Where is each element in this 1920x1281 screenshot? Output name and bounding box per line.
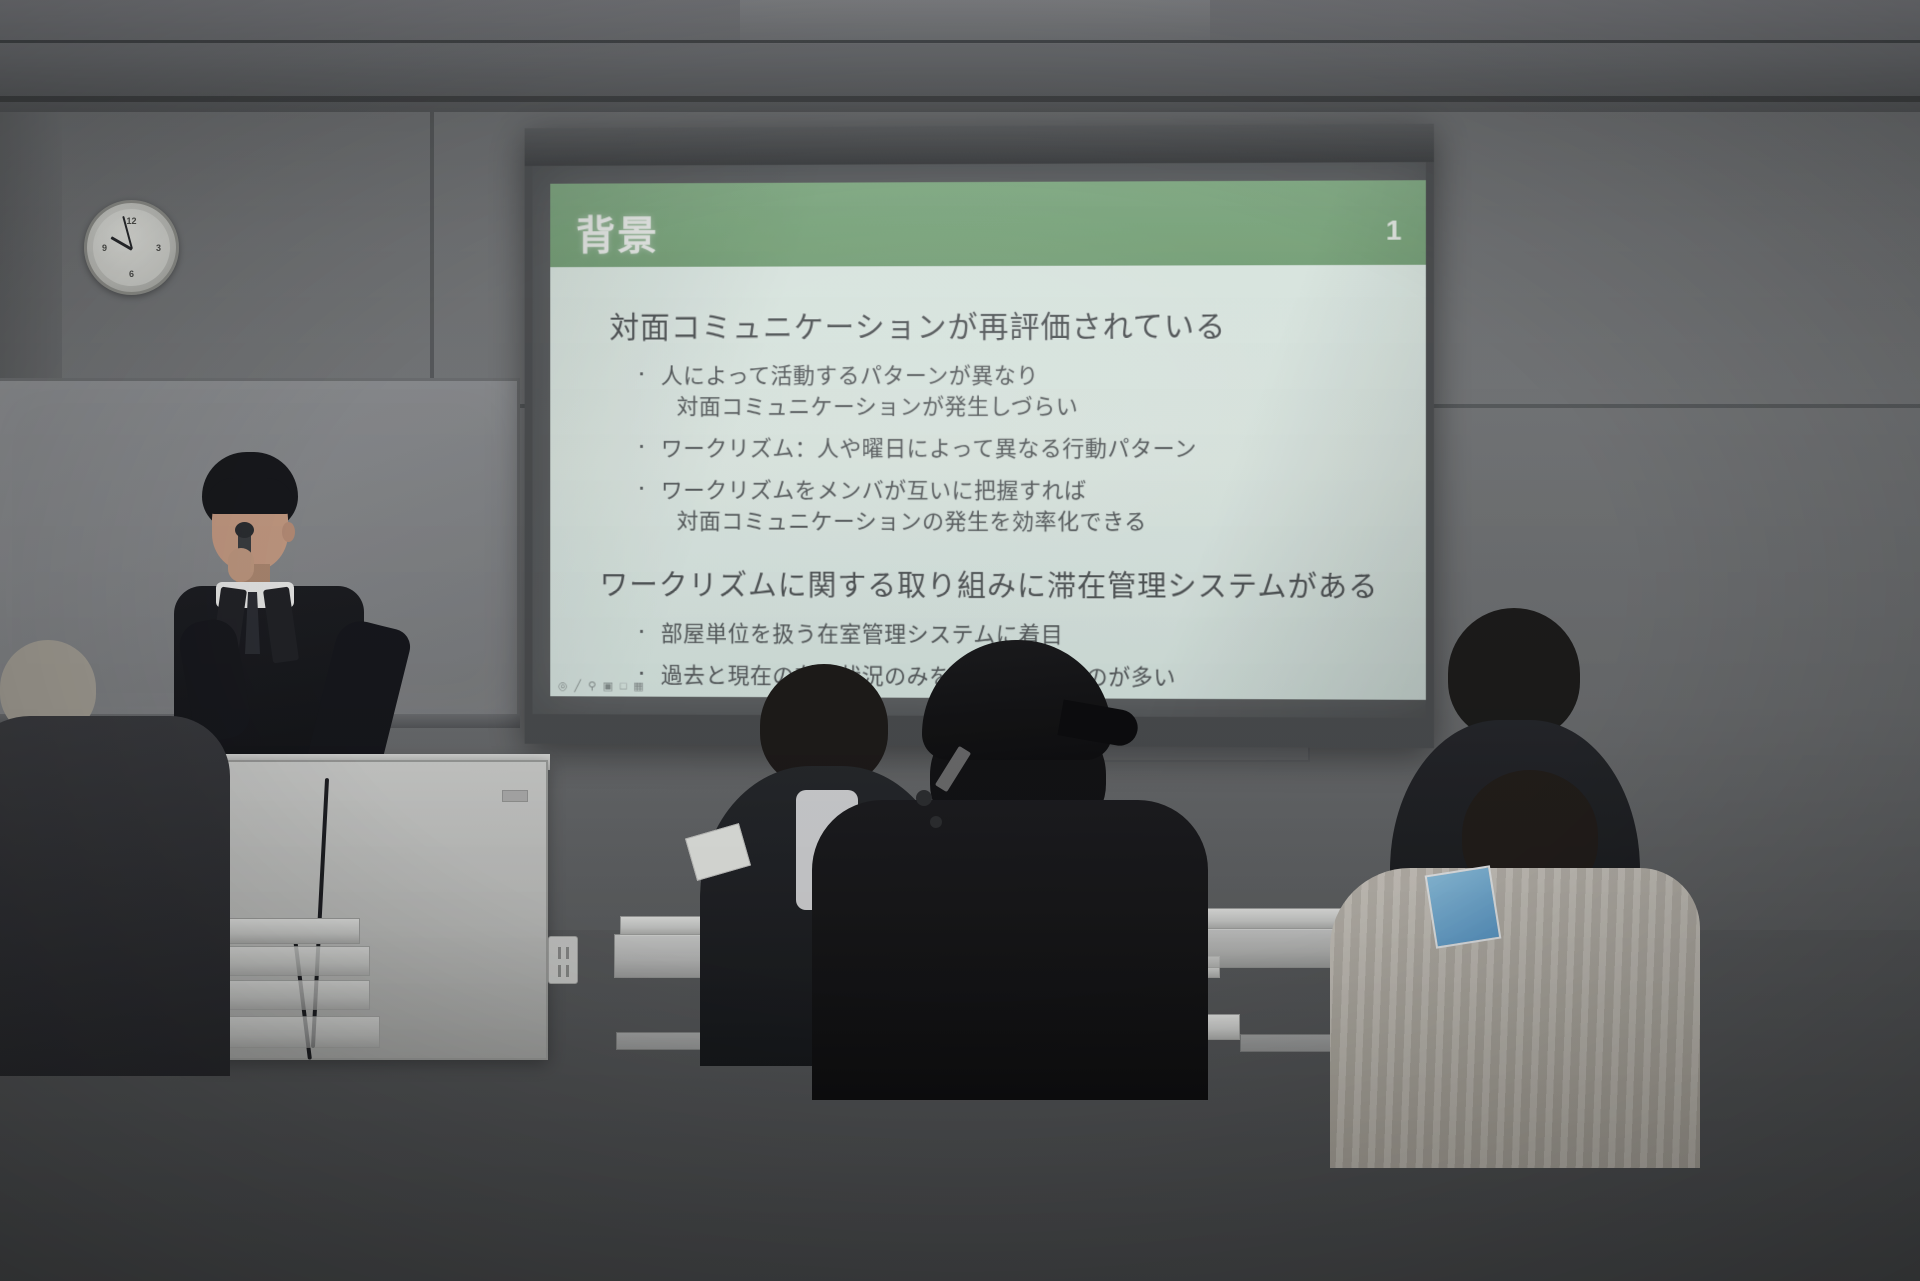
audience-body <box>812 800 1208 1100</box>
bullet-line-2: 対面コミュニケーションの発生を効率化できる <box>661 506 1392 538</box>
magnifier-icon[interactable]: ⚲ <box>588 681 596 692</box>
presentation-slide: 背景 1 対面コミュニケーションが再評価されている 人によって活動するパターンが… <box>550 180 1426 700</box>
grid-icon[interactable]: ▦ <box>634 682 644 693</box>
hoodie-detail <box>930 816 942 828</box>
pdf-presenter-toolbar[interactable]: ◎ ╱ ⚲ ▣ □ ▦ <box>558 681 644 692</box>
clock-numeral-9: 9 <box>102 243 107 253</box>
wall-clock: 12 3 6 9 <box>84 200 179 295</box>
knit-sweater-texture <box>1330 868 1700 1168</box>
microphone-head <box>235 522 254 538</box>
bullet-line-2: 対面コミュニケーションが発生しづらい <box>661 391 1392 422</box>
slide-header: 背景 1 <box>550 180 1426 267</box>
slide-bullet: ワークリズムをメンバが互いに把握すれば 対面コミュニケーションの発生を効率化でき… <box>635 475 1391 538</box>
slide-bullet: 人によって活動するパターンが異なり 対面コミュニケーションが発生しづらい <box>635 359 1391 422</box>
slide-page-number: 1 <box>1386 215 1402 247</box>
ceiling-seam <box>0 40 1920 43</box>
slide-bullet-list-1: 人によって活動するパターンが異なり 対面コミュニケーションが発生しづらい ワーク… <box>635 359 1391 537</box>
clock-numeral-6: 6 <box>129 269 134 279</box>
hoodie-detail <box>916 790 932 806</box>
presenter-hand-holding-mic <box>228 548 254 582</box>
presenter-fringe <box>206 478 294 514</box>
presenter-ear <box>282 522 295 542</box>
slide-bullet: ワークリズム：人や曜日によって異なる行動パターン <box>635 433 1391 464</box>
slide-body: 対面コミュニケーションが再評価されている 人によって活動するパターンが異なり 対… <box>550 265 1426 700</box>
lecture-hall-scene: 12 3 6 9 背景 1 対面コミュニケーションが再評価されている <box>0 0 1920 1281</box>
ceiling-seam-lower <box>0 96 1920 102</box>
bullet-line-1: 人によって活動するパターンが異なり <box>661 363 1039 388</box>
camera-icon[interactable]: ▣ <box>603 682 613 693</box>
slide-section-heading-1: 対面コミュニケーションが再評価されている <box>609 301 1391 346</box>
wall-vertical-seam <box>430 112 434 412</box>
wall-power-outlet <box>548 936 578 984</box>
podium-label-plate <box>502 790 528 802</box>
ceiling-panel <box>740 0 1210 44</box>
screen-surface: 背景 1 対面コミュニケーションが再評価されている 人によって活動するパターンが… <box>533 162 1426 718</box>
podium <box>188 760 548 1060</box>
slide-section-heading-2: ワークリズムに関する取り組みに滞在管理システムがある <box>600 562 1392 606</box>
bullet-line-1: ワークリズム：人や曜日によって異なる行動パターン <box>661 436 1197 461</box>
screen-top-bar <box>525 124 1434 166</box>
pointer-icon[interactable]: ◎ <box>558 681 567 692</box>
clock-numeral-12: 12 <box>126 216 136 226</box>
audience-body <box>0 716 230 1076</box>
clock-numeral-3: 3 <box>156 243 161 253</box>
bullet-line-1: ワークリズムをメンバが互いに把握すれば <box>661 478 1087 503</box>
pen-icon[interactable]: ╱ <box>575 681 582 692</box>
clock-face: 12 3 6 9 <box>93 209 170 286</box>
square-icon[interactable]: □ <box>620 682 627 693</box>
audience-booklet <box>1425 865 1502 948</box>
slide-title: 背景 <box>576 203 659 261</box>
